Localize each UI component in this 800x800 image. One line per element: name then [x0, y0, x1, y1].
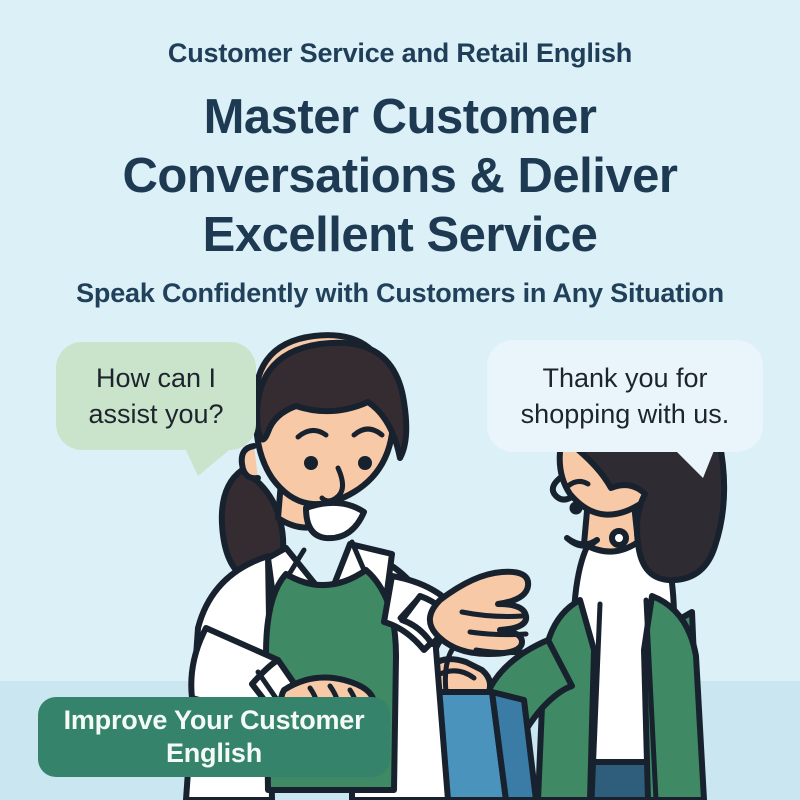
cta-banner-label: Improve Your Customer English: [52, 704, 376, 770]
cta-banner[interactable]: Improve Your Customer English: [38, 697, 390, 777]
speech-bubble-customer: Thank you for shopping with us.: [487, 340, 763, 452]
page-title: Master Customer Conversations & Deliver …: [40, 88, 760, 265]
speech-bubble-employee-text: How can I assist you?: [56, 360, 256, 432]
headline-line-3: Excellent Service: [40, 206, 760, 265]
speech-bubble-employee-tail: [184, 446, 234, 476]
subheadline-text: Speak Confidently with Customers in Any …: [0, 278, 800, 309]
speech-bubble-customer-tail: [673, 448, 715, 478]
speech-bubble-customer-text: Thank you for shopping with us.: [487, 360, 763, 432]
headline-line-1: Master Customer: [40, 88, 760, 147]
speech-bubble-employee: How can I assist you?: [56, 342, 256, 450]
eyebrow-text: Customer Service and Retail English: [0, 38, 800, 69]
poster-canvas: Customer Service and Retail English Mast…: [0, 0, 800, 800]
headline-line-2: Conversations & Deliver: [40, 147, 760, 206]
